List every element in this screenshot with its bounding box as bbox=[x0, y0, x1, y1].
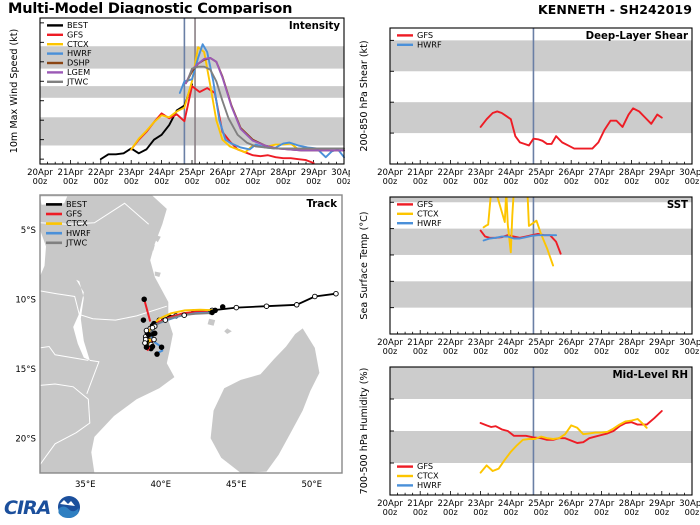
track-point-cluster-open bbox=[152, 337, 157, 342]
x-tick-sublabel: 00z bbox=[413, 346, 428, 356]
cira-logo-text: CIRA bbox=[4, 497, 51, 519]
clip-top bbox=[350, 189, 700, 197]
clip-top bbox=[350, 359, 700, 367]
track-point-HWRF bbox=[210, 310, 215, 315]
x-tick-sublabel: 00z bbox=[245, 176, 260, 186]
track-point-BEST-open bbox=[264, 304, 269, 309]
x-tick-sublabel: 00z bbox=[473, 507, 488, 517]
clip-left bbox=[0, 14, 40, 194]
chart-shear: 010203040Deep-Layer Shear200-850 hPa She… bbox=[350, 14, 700, 194]
x-tick-sublabel: 00z bbox=[383, 176, 398, 186]
chart-track: 5°S10°S15°S20°S35°E40°E45°E50°ETrackBEST… bbox=[0, 189, 350, 507]
x-tick-sublabel: 00z bbox=[443, 176, 458, 186]
chart-rh: 20406080100Mid-Level RH700-500 hPa Humid… bbox=[350, 359, 700, 525]
y-axis-title-rh: 700-500 hPa Humidity (%) bbox=[359, 368, 370, 495]
x-tick-sublabel: 00z bbox=[594, 507, 609, 517]
panel-track-map: 5°S10°S15°S20°S35°E40°E45°E50°ETrackBEST… bbox=[0, 189, 350, 507]
category-band bbox=[40, 117, 344, 145]
legend-label-CTCX: CTCX bbox=[66, 218, 88, 228]
track-point-BEST-open bbox=[294, 303, 299, 308]
track-point-BEST-open bbox=[313, 294, 318, 299]
track-point-cluster-filled bbox=[150, 344, 155, 349]
category-band bbox=[390, 197, 692, 202]
track-point-cluster-filled bbox=[146, 332, 151, 337]
x-tick-sublabel: 00z bbox=[276, 176, 291, 186]
x-tick-sublabel: 00z bbox=[534, 507, 549, 517]
lat-tick-label: 10°S bbox=[15, 295, 36, 305]
x-tick-sublabel: 00z bbox=[594, 346, 609, 356]
x-tick-sublabel: 00z bbox=[215, 176, 230, 186]
x-tick-sublabel: 00z bbox=[413, 176, 428, 186]
legend-label-HWRF: HWRF bbox=[66, 228, 91, 238]
panel-label-shear: Deep-Layer Shear bbox=[586, 31, 688, 42]
x-tick-sublabel: 00z bbox=[654, 176, 669, 186]
x-tick-sublabel: 00z bbox=[503, 507, 518, 517]
panel-deep-layer-shear: 010203040Deep-Layer Shear200-850 hPa She… bbox=[350, 14, 700, 194]
x-tick-sublabel: 00z bbox=[93, 176, 108, 186]
x-tick-sublabel: 00z bbox=[503, 176, 518, 186]
track-point-HWRF bbox=[159, 345, 164, 350]
x-tick-sublabel: 00z bbox=[624, 346, 639, 356]
panel-label-sst: SST bbox=[667, 200, 688, 211]
x-tick-sublabel: 00z bbox=[337, 176, 350, 186]
track-point-BEST-open bbox=[334, 291, 339, 296]
track-point-JTWC-open bbox=[182, 313, 187, 318]
category-band bbox=[390, 102, 692, 133]
x-tick-sublabel: 00z bbox=[685, 507, 700, 517]
track-point-HWRF bbox=[155, 352, 160, 357]
track-point-cluster-filled bbox=[144, 345, 149, 350]
x-tick-sublabel: 00z bbox=[413, 507, 428, 517]
lat-tick-label: 15°S bbox=[15, 365, 36, 375]
x-tick-sublabel: 00z bbox=[685, 176, 700, 186]
x-tick-sublabel: 00z bbox=[564, 507, 579, 517]
x-tick-sublabel: 00z bbox=[473, 176, 488, 186]
x-tick-sublabel: 00z bbox=[383, 346, 398, 356]
track-point-JTWC-open bbox=[163, 318, 168, 323]
lon-tick-label: 40°E bbox=[150, 480, 171, 490]
track-point-GFS bbox=[141, 318, 146, 323]
panel-label-intensity: Intensity bbox=[289, 21, 341, 32]
x-tick-sublabel: 00z bbox=[383, 507, 398, 517]
lat-tick-label: 5°S bbox=[21, 226, 36, 236]
y-axis-title-shear: 200-850 hPa Shear (kt) bbox=[359, 40, 370, 151]
lon-tick-label: 35°E bbox=[75, 480, 96, 490]
panel-mid-level-rh: 20406080100Mid-Level RH700-500 hPa Humid… bbox=[350, 359, 700, 525]
legend-label-JTWC: JTWC bbox=[66, 76, 89, 86]
x-tick-sublabel: 00z bbox=[564, 176, 579, 186]
x-tick-sublabel: 00z bbox=[306, 176, 321, 186]
clip-top bbox=[350, 14, 700, 28]
panel-label-track: Track bbox=[306, 199, 337, 210]
x-tick-sublabel: 00z bbox=[624, 507, 639, 517]
x-tick-sublabel: 00z bbox=[443, 507, 458, 517]
legend-label-BEST: BEST bbox=[66, 199, 88, 209]
chart-sst: 222426283032SSTSea Surface Temp (°C)20Ap… bbox=[350, 189, 700, 364]
track-point-cluster-filled bbox=[152, 331, 157, 336]
x-tick-sublabel: 00z bbox=[473, 346, 488, 356]
x-tick-sublabel: 00z bbox=[654, 346, 669, 356]
legend-label-GFS: GFS bbox=[66, 209, 82, 219]
track-point-GFS bbox=[142, 297, 147, 302]
x-tick-sublabel: 00z bbox=[534, 346, 549, 356]
x-tick-sublabel: 00z bbox=[564, 346, 579, 356]
y-axis-title-sst: Sea Surface Temp (°C) bbox=[359, 211, 370, 319]
panel-sst: 222426283032SSTSea Surface Temp (°C)20Ap… bbox=[350, 189, 700, 364]
panel-label-rh: Mid-Level RH bbox=[612, 370, 688, 381]
lon-tick-label: 50°E bbox=[301, 480, 322, 490]
globe-icon bbox=[58, 496, 80, 518]
x-tick-sublabel: 00z bbox=[63, 176, 78, 186]
legend-label-HWRF: HWRF bbox=[417, 218, 442, 228]
y-axis-title-intensity: 10m Max Wind Speed (kt) bbox=[9, 29, 20, 154]
category-band bbox=[390, 281, 692, 307]
lat-tick-label: 20°S bbox=[15, 434, 36, 444]
chart-intensity: 20406080100120140160Intensity10m Max Win… bbox=[0, 14, 350, 194]
clip-right bbox=[693, 14, 700, 194]
clip-left bbox=[350, 14, 390, 194]
x-tick-sublabel: 00z bbox=[685, 346, 700, 356]
x-tick-sublabel: 00z bbox=[124, 176, 139, 186]
x-tick-sublabel: 00z bbox=[33, 176, 48, 186]
track-point-BEST-open bbox=[234, 305, 239, 310]
panel-intensity: 20406080100120140160Intensity10m Max Win… bbox=[0, 14, 350, 194]
legend-label-HWRF: HWRF bbox=[417, 480, 442, 490]
x-tick-sublabel: 00z bbox=[534, 176, 549, 186]
lon-tick-label: 45°E bbox=[226, 480, 247, 490]
x-tick-sublabel: 00z bbox=[443, 346, 458, 356]
x-tick-sublabel: 00z bbox=[654, 507, 669, 517]
track-point-BEST-filled bbox=[220, 305, 225, 310]
clip-top bbox=[0, 14, 350, 18]
x-tick-sublabel: 00z bbox=[624, 176, 639, 186]
legend-label-JTWC: JTWC bbox=[65, 237, 88, 247]
legend-label-HWRF: HWRF bbox=[417, 39, 442, 49]
x-tick-sublabel: 00z bbox=[503, 346, 518, 356]
x-tick-sublabel: 00z bbox=[185, 176, 200, 186]
x-tick-sublabel: 00z bbox=[594, 176, 609, 186]
track-point-cluster-open bbox=[150, 325, 155, 330]
x-tick-sublabel: 00z bbox=[154, 176, 169, 186]
cira-logo: CIRA bbox=[2, 492, 112, 522]
